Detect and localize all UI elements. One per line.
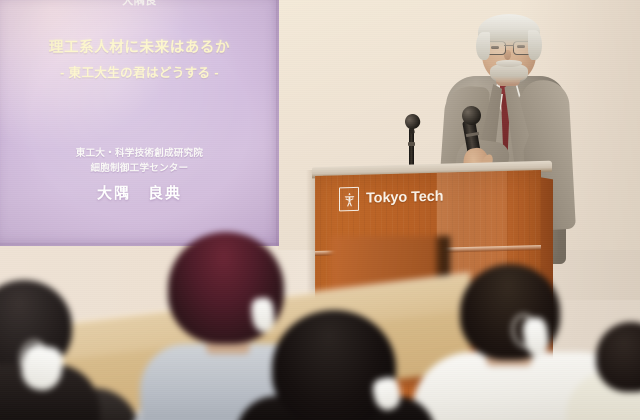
audience-foreground	[0, 236, 640, 420]
slide-affiliation-line-1: 東工大・科学技術創成研究院	[0, 145, 279, 159]
gooseneck-capsule	[403, 112, 422, 131]
speaker-hair-left	[476, 32, 490, 60]
tokyo-tech-emblem-icon	[339, 187, 359, 212]
speaker-mustache	[496, 60, 522, 67]
slide-speaker-name: 大隅 良典	[0, 182, 279, 203]
slide-subtitle: - 東工大生の君はどうする -	[0, 62, 279, 81]
tokyo-tech-logo-text: Tokyo Tech	[366, 189, 443, 207]
gooseneck-joint	[408, 142, 415, 146]
tokyo-tech-logo: Tokyo Tech	[339, 185, 443, 212]
screen-right-edge	[276, 0, 279, 246]
speaker-beard	[490, 64, 528, 84]
gooseneck-microphone	[396, 112, 432, 168]
speaker-hair-right	[528, 30, 542, 60]
slide-clipped-top-line: 大隅良	[0, 0, 279, 8]
lecture-photograph: 大隅良 理工系人材に未来はあるか - 東工大生の君はどうする - 東工大・科学技…	[0, 0, 640, 420]
slide-title: 理工系人材に未来はあるか	[0, 36, 279, 57]
slide-affiliation-line-2: 細胞制御工学センター	[0, 160, 279, 174]
projection-screen: 大隅良 理工系人材に未来はあるか - 東工大生の君はどうする - 東工大・科学技…	[0, 0, 279, 246]
